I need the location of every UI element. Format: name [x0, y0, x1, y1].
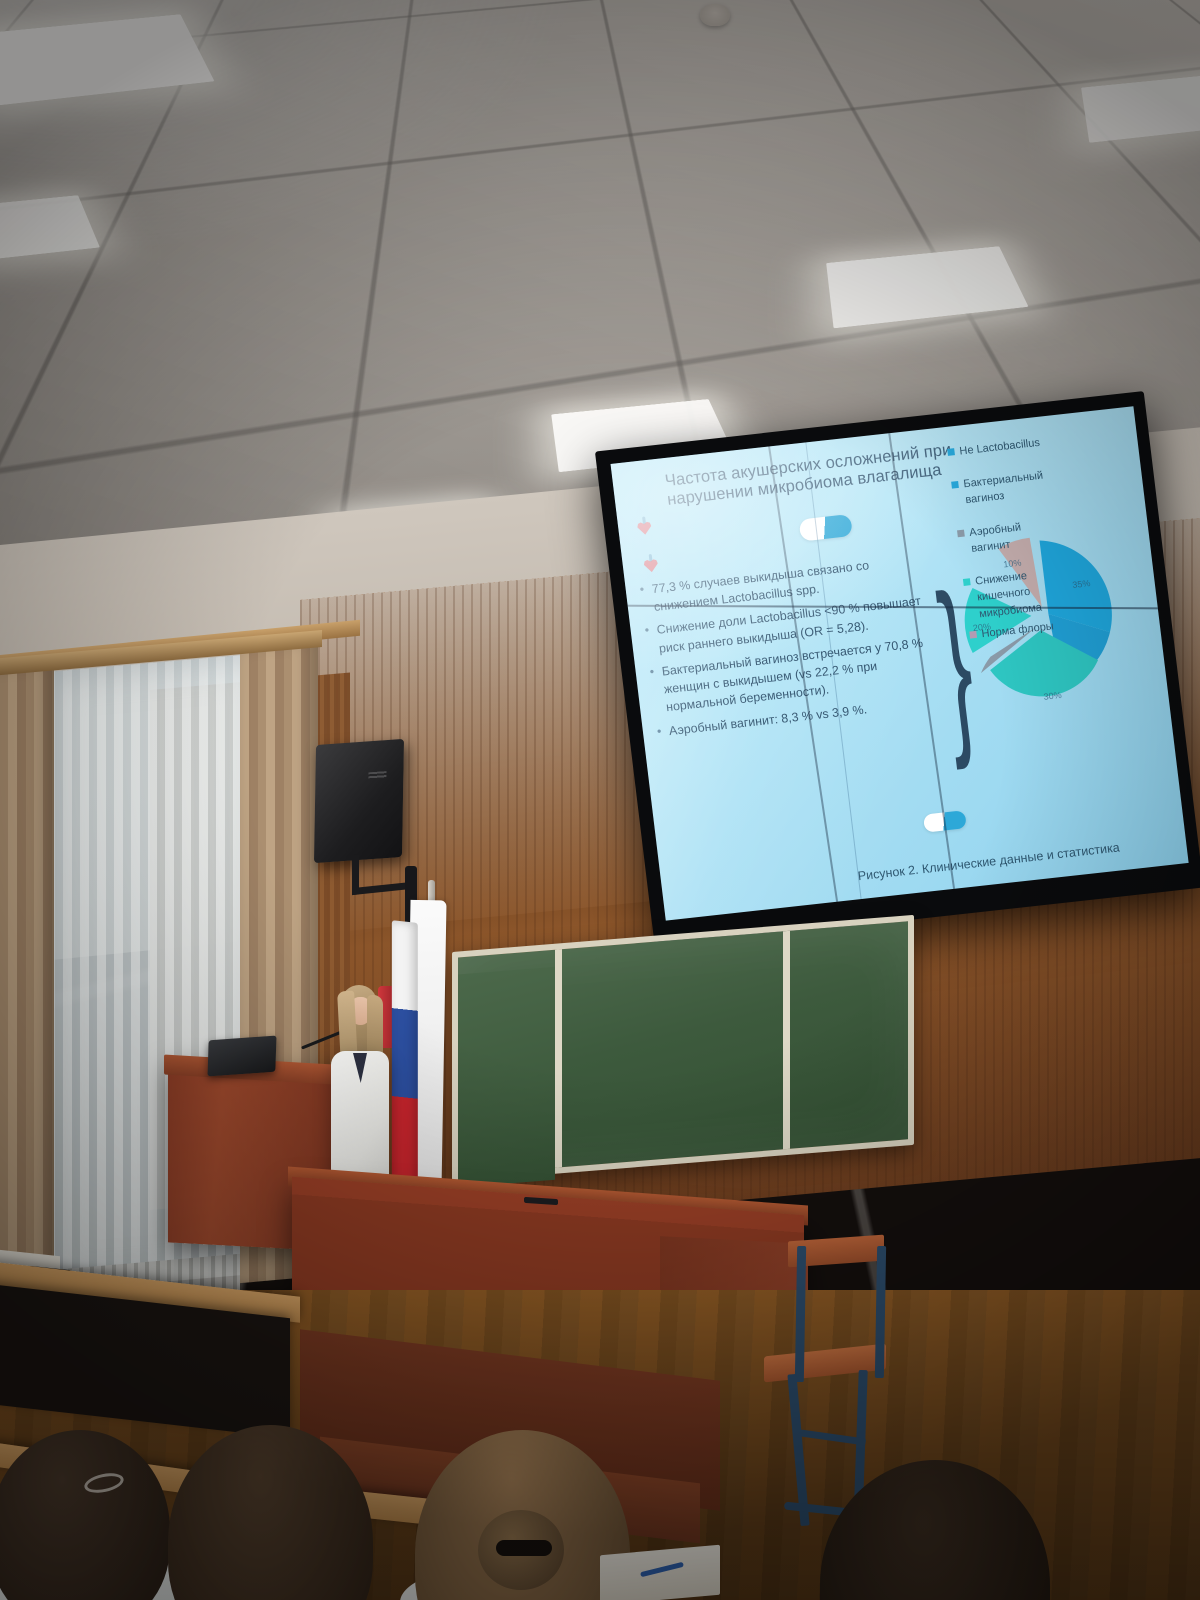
student-head: [0, 1430, 170, 1600]
student-head: [168, 1425, 373, 1600]
legend-label: Норма флоры: [981, 618, 1055, 642]
legend-label-line3: микробиома: [978, 601, 1042, 620]
audience-foreground: [0, 1260, 1200, 1600]
presentation-display[interactable]: Частота акушерских осложнений при наруше…: [595, 391, 1200, 948]
legend-swatch-icon: [963, 578, 971, 586]
lectern-monitor: [207, 1036, 276, 1077]
legend-item-bakterialny-vaginoz: Бактериальный вагиноз: [951, 460, 1114, 510]
chalkboard-divider: [783, 931, 790, 1150]
slide-bullet-list: 77,3 % случаев выкидыша связано со сниже…: [639, 550, 943, 746]
legend-label-line2: кишечного: [977, 586, 1031, 604]
legend-swatch-icon: [957, 529, 965, 537]
legend-label-line2: вагиноз: [965, 490, 1005, 506]
chalkboard-divider: [555, 949, 562, 1168]
russian-flag: [389, 900, 446, 1191]
flag-tricolour-fold: [392, 920, 418, 1189]
legend-swatch-icon: [969, 631, 977, 639]
student-head: [820, 1460, 1050, 1600]
pie-slice-label: 30%: [1043, 690, 1062, 702]
figure-caption: Рисунок 2. Клинические данные и статисти…: [857, 833, 1187, 883]
wall-loudspeaker: [314, 739, 404, 863]
chart-legend: Не Lactobacillus Бактериальный вагиноз А…: [947, 427, 1132, 659]
legend-label: Аэробный: [969, 521, 1022, 539]
legend-item-aerobny-vaginit: Аэробный вагинит: [956, 508, 1119, 558]
slide-screen: Частота акушерских осложнений при наруше…: [611, 406, 1189, 920]
hair-tie: [496, 1540, 552, 1556]
chalkboard: [452, 915, 914, 1182]
drape-left: [0, 659, 54, 1305]
legend-label: Бактериальный: [963, 469, 1044, 490]
chalkboard-left-panel: [458, 967, 555, 1188]
legend-swatch-icon: [951, 480, 959, 488]
uterus-icon-2: [640, 553, 662, 575]
smoke-detector-icon: [700, 4, 730, 26]
legend-swatch-icon: [947, 448, 955, 456]
pill-icon: [799, 514, 853, 542]
uterus-icon: [633, 516, 655, 538]
lecture-hall-scene: Частота акушерских осложнений при наруше…: [0, 0, 1200, 1600]
speaker-mount-bracket: [352, 849, 412, 895]
legend-item-ne-lactobacillus: Не Lactobacillus: [947, 427, 1108, 461]
legend-label-line2: вагинит: [971, 539, 1011, 555]
legend-label: Снижение: [975, 569, 1028, 587]
slide-content: Частота акушерских осложнений при наруше…: [611, 406, 1189, 920]
